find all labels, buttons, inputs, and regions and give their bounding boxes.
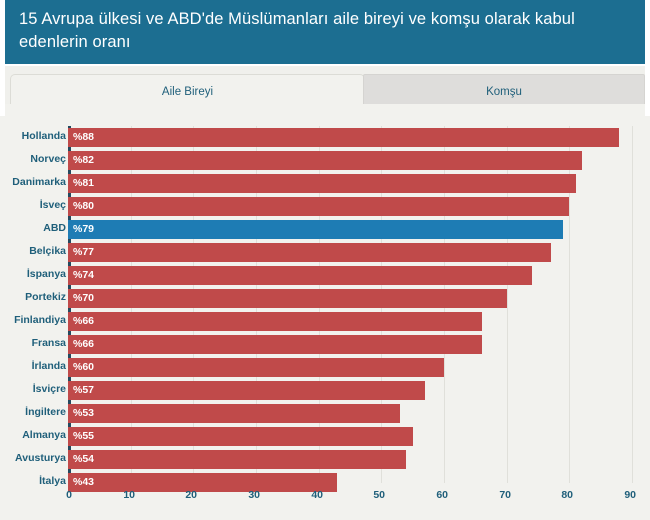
category-label-wrap: Portekiz [0,287,66,310]
bar-row[interactable]: %79 [68,218,632,241]
bar-value-label: %80 [73,200,94,213]
tab-aile-bireyi-label: Aile Bireyi [11,75,364,107]
x-tick-label-80: 80 [533,488,573,502]
bar-value-label: %60 [73,361,94,374]
category-label-wrap: İsveç [0,195,66,218]
category-label-hollanda: Hollanda [2,130,66,143]
category-label-fransa: Fransa [2,337,66,350]
bar-row[interactable]: %60 [68,356,632,379]
category-label-finlandiya: Finlandiya [2,314,66,327]
x-tick-label-70: 70 [471,488,511,502]
category-label-wrap: Almanya [0,425,66,448]
bar-value-label: %66 [73,338,94,351]
bar-row[interactable]: %81 [68,172,632,195]
category-label-i̇sviçre: İsviçre [2,383,66,396]
category-label-avusturya: Avusturya [2,452,66,465]
bar-value-label: %54 [73,453,94,466]
bar-row[interactable]: %77 [68,241,632,264]
bar-row[interactable]: %70 [68,287,632,310]
bar-row[interactable]: %55 [68,425,632,448]
bar-i̇sveç[interactable]: %80 [68,197,569,216]
category-label-norveç: Norveç [2,153,66,166]
bar-belçika[interactable]: %77 [68,243,551,262]
bar-row[interactable]: %66 [68,310,632,333]
category-label-wrap: Hollanda [0,126,66,149]
bar-row[interactable]: %54 [68,448,632,471]
category-label-wrap: Norveç [0,149,66,172]
bar-portekiz[interactable]: %70 [68,289,507,308]
bar-value-label: %66 [73,315,94,328]
bar-avusturya[interactable]: %54 [68,450,406,469]
bar-almanya[interactable]: %55 [68,427,413,446]
bar-fransa[interactable]: %66 [68,335,482,354]
tab-underline [5,104,645,116]
bar-row[interactable]: %82 [68,149,632,172]
bar-hollanda[interactable]: %88 [68,128,619,147]
bar-row[interactable]: %53 [68,402,632,425]
x-tick-label-0: 0 [32,488,72,502]
bar-danimarka[interactable]: %81 [68,174,576,193]
x-tick-label-20: 20 [157,488,197,502]
category-label-wrap: İspanya [0,264,66,287]
bar-value-label: %79 [73,223,94,236]
category-label-wrap: İngiltere [0,402,66,425]
bar-i̇sviçre[interactable]: %57 [68,381,425,400]
x-tick-label-40: 40 [283,488,323,502]
category-label-i̇sveç: İsveç [2,199,66,212]
category-label-almanya: Almanya [2,429,66,442]
bar-finlandiya[interactable]: %66 [68,312,482,331]
category-label-wrap: İrlanda [0,356,66,379]
bar-value-label: %74 [73,269,94,282]
category-label-i̇ngiltere: İngiltere [2,406,66,419]
x-tick-label-90: 90 [596,488,636,502]
category-label-wrap: Fransa [0,333,66,356]
x-tick-label-50: 50 [345,488,385,502]
bar-chart: %88Hollanda%82Norveç%81Danimarka%80İsveç… [0,116,650,520]
category-label-i̇talya: İtalya [2,475,66,488]
bar-row[interactable]: %57 [68,379,632,402]
gridline-90 [632,126,633,483]
category-label-abd: ABD [2,222,66,235]
page-title: 15 Avrupa ülkesi ve ABD'de Müslümanları … [19,8,631,54]
category-label-i̇spanya: İspanya [2,268,66,281]
bar-row[interactable]: %88 [68,126,632,149]
x-tick-label-10: 10 [95,488,135,502]
x-tick-label-60: 60 [408,488,448,502]
bar-value-label: %70 [73,292,94,305]
bar-value-label: %55 [73,430,94,443]
header-banner: 15 Avrupa ülkesi ve ABD'de Müslümanları … [5,0,645,64]
bar-value-label: %57 [73,384,94,397]
x-tick-label-30: 30 [220,488,260,502]
category-label-wrap: Danimarka [0,172,66,195]
chart-widget: 15 Avrupa ülkesi ve ABD'de Müslümanları … [0,0,650,520]
bar-value-label: %43 [73,476,94,489]
category-label-danimarka: Danimarka [2,176,66,189]
category-label-wrap: İsviçre [0,379,66,402]
bar-value-label: %77 [73,246,94,259]
category-label-belçika: Belçika [2,245,66,258]
bar-i̇ngiltere[interactable]: %53 [68,404,400,423]
bar-value-label: %82 [73,154,94,167]
category-label-wrap: Finlandiya [0,310,66,333]
bar-i̇rlanda[interactable]: %60 [68,358,444,377]
bar-value-label: %88 [73,131,94,144]
bar-norveç[interactable]: %82 [68,151,582,170]
bar-row[interactable]: %80 [68,195,632,218]
bar-row[interactable]: %66 [68,333,632,356]
category-label-wrap: Avusturya [0,448,66,471]
bar-i̇spanya[interactable]: %74 [68,266,532,285]
bar-value-label: %81 [73,177,94,190]
bar-row[interactable]: %74 [68,264,632,287]
bar-abd[interactable]: %79 [68,220,563,239]
category-label-i̇rlanda: İrlanda [2,360,66,373]
category-label-portekiz: Portekiz [2,291,66,304]
category-label-wrap: Belçika [0,241,66,264]
tab-komsu-label: Komşu [364,75,644,107]
category-label-wrap: ABD [0,218,66,241]
bar-value-label: %53 [73,407,94,420]
